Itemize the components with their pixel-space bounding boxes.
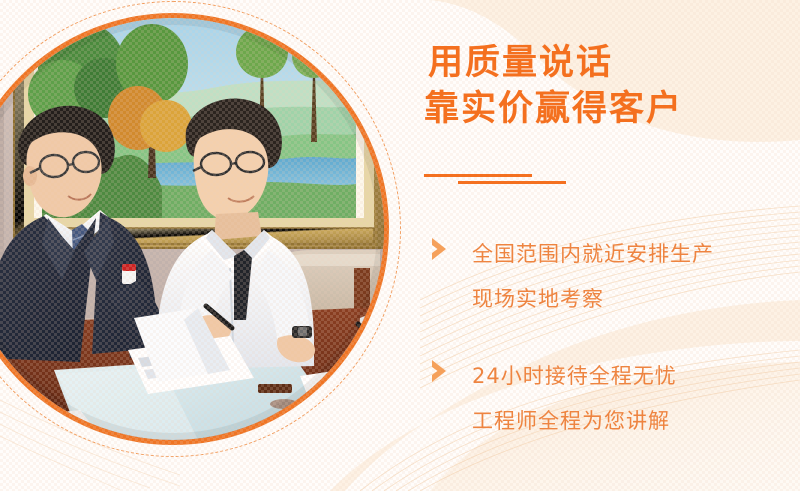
list-item-line-2: 现场实地考察 — [472, 277, 800, 322]
photo-container — [0, 13, 389, 445]
business-signing-photo — [0, 18, 384, 440]
headline: 用质量说话 靠实价赢得客户 — [424, 40, 800, 132]
list-item-line-2: 工程师全程为您讲解 — [472, 399, 800, 444]
list-item: 24小时接待全程无忧 工程师全程为您讲解 — [424, 354, 800, 444]
divider-line-top — [424, 174, 532, 177]
headline-divider — [424, 174, 800, 190]
feature-list: 全国范围内就近安排生产 现场实地考察 24小时接待全程无忧 工程师全程为您讲解 — [424, 232, 800, 476]
list-item: 全国范围内就近安排生产 现场实地考察 — [424, 232, 800, 322]
list-item-line-1: 24小时接待全程无忧 — [472, 354, 800, 399]
headline-line-2: 靠实价赢得客户 — [424, 86, 800, 132]
chevron-right-icon — [428, 358, 450, 384]
promo-banner: 用质量说话 靠实价赢得客户 全国范围内就近安排生产 现场实地考察 — [0, 0, 800, 491]
chevron-right-icon — [428, 236, 450, 262]
headline-line-1: 用质量说话 — [424, 40, 800, 86]
list-item-line-1: 全国范围内就近安排生产 — [472, 232, 800, 277]
content-column: 用质量说话 靠实价赢得客户 全国范围内就近安排生产 现场实地考察 — [424, 0, 800, 491]
divider-line-bottom — [458, 181, 566, 184]
